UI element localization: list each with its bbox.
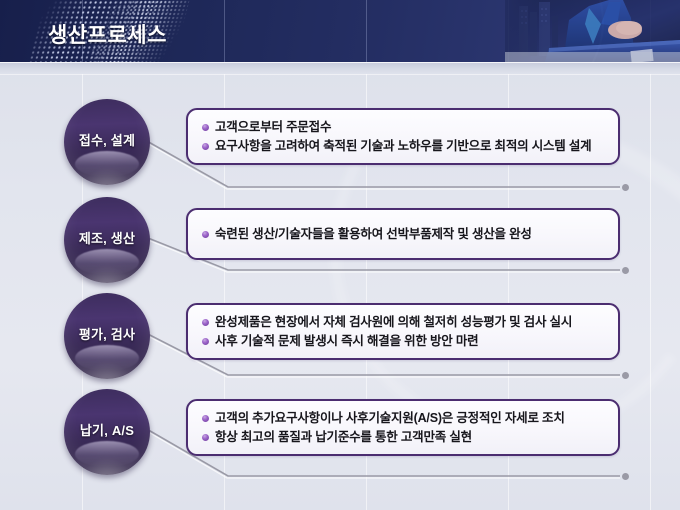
- process-node-label: 접수, 설계: [64, 130, 150, 149]
- bullet-item: 요구사항을 고려하여 축적된 기술과 노하우를 기반으로 최적의 시스템 설계: [202, 138, 606, 154]
- bullet-dot-icon: [202, 231, 209, 238]
- bullet-dot-icon: [202, 415, 209, 422]
- bullet-dot-icon: [202, 319, 209, 326]
- bullet-text: 항상 최고의 품질과 납기준수를 통한 고객만족 실현: [215, 429, 472, 445]
- process-node-circle[interactable]: 제조, 생산: [64, 197, 150, 283]
- banner-business-photo: [505, 0, 680, 62]
- process-detail-card: 완성제품은 현장에서 자체 검사원에 의해 철저히 성능평가 및 검사 실시 사…: [186, 303, 620, 360]
- process-node-circle[interactable]: 접수, 설계: [64, 99, 150, 185]
- process-node-circle[interactable]: 평가, 검사: [64, 293, 150, 379]
- bullet-dot-icon: [202, 338, 209, 345]
- bullet-text: 요구사항을 고려하여 축적된 기술과 노하우를 기반으로 최적의 시스템 설계: [215, 138, 592, 154]
- bullet-item: 사후 기술적 문제 발생시 즉시 해결을 위한 방안 마련: [202, 333, 606, 349]
- slide-canvas: 생산프로세스 접수, 설계 고객으로부터 주문접수 요구사항을 고려하여 축적된…: [0, 0, 680, 510]
- bullet-dot-icon: [202, 434, 209, 441]
- process-detail-card: 고객의 추가요구사항이나 사후기술지원(A/S)은 긍정적인 자세로 조치 항상…: [186, 399, 620, 456]
- process-node-label: 납기, A/S: [64, 420, 150, 439]
- bullet-dot-icon: [202, 143, 209, 150]
- slide-header-banner: 생산프로세스: [0, 0, 680, 62]
- bullet-item: 숙련된 생산/기술자들을 활용하여 선박부품제작 및 생산을 완성: [202, 226, 606, 242]
- connector-end-dot: [622, 267, 629, 274]
- process-node-label: 제조, 생산: [64, 228, 150, 247]
- connector-end-dot: [622, 372, 629, 379]
- bullet-text: 숙련된 생산/기술자들을 활용하여 선박부품제작 및 생산을 완성: [215, 226, 532, 242]
- connector-end-dot: [622, 473, 629, 480]
- banner-underline-band: [0, 62, 680, 74]
- bullet-text: 사후 기술적 문제 발생시 즉시 해결을 위한 방안 마련: [215, 333, 478, 349]
- process-detail-card: 숙련된 생산/기술자들을 활용하여 선박부품제작 및 생산을 완성: [186, 208, 620, 260]
- process-node-label: 평가, 검사: [64, 324, 150, 343]
- bullet-item: 고객의 추가요구사항이나 사후기술지원(A/S)은 긍정적인 자세로 조치: [202, 410, 606, 426]
- bullet-text: 완성제품은 현장에서 자체 검사원에 의해 철저히 성능평가 및 검사 실시: [215, 314, 572, 330]
- bullet-item: 고객으로부터 주문접수: [202, 119, 606, 135]
- page-title: 생산프로세스: [48, 19, 167, 49]
- process-node-circle[interactable]: 납기, A/S: [64, 389, 150, 475]
- bullet-dot-icon: [202, 124, 209, 131]
- bullet-text: 고객의 추가요구사항이나 사후기술지원(A/S)은 긍정적인 자세로 조치: [215, 410, 565, 426]
- connector-end-dot: [622, 184, 629, 191]
- process-detail-card: 고객으로부터 주문접수 요구사항을 고려하여 축적된 기술과 노하우를 기반으로…: [186, 108, 620, 165]
- bullet-item: 완성제품은 현장에서 자체 검사원에 의해 철저히 성능평가 및 검사 실시: [202, 314, 606, 330]
- banner-underline-rule: [0, 62, 680, 63]
- bullet-item: 항상 최고의 품질과 납기준수를 통한 고객만족 실현: [202, 429, 606, 445]
- bullet-text: 고객으로부터 주문접수: [215, 119, 331, 135]
